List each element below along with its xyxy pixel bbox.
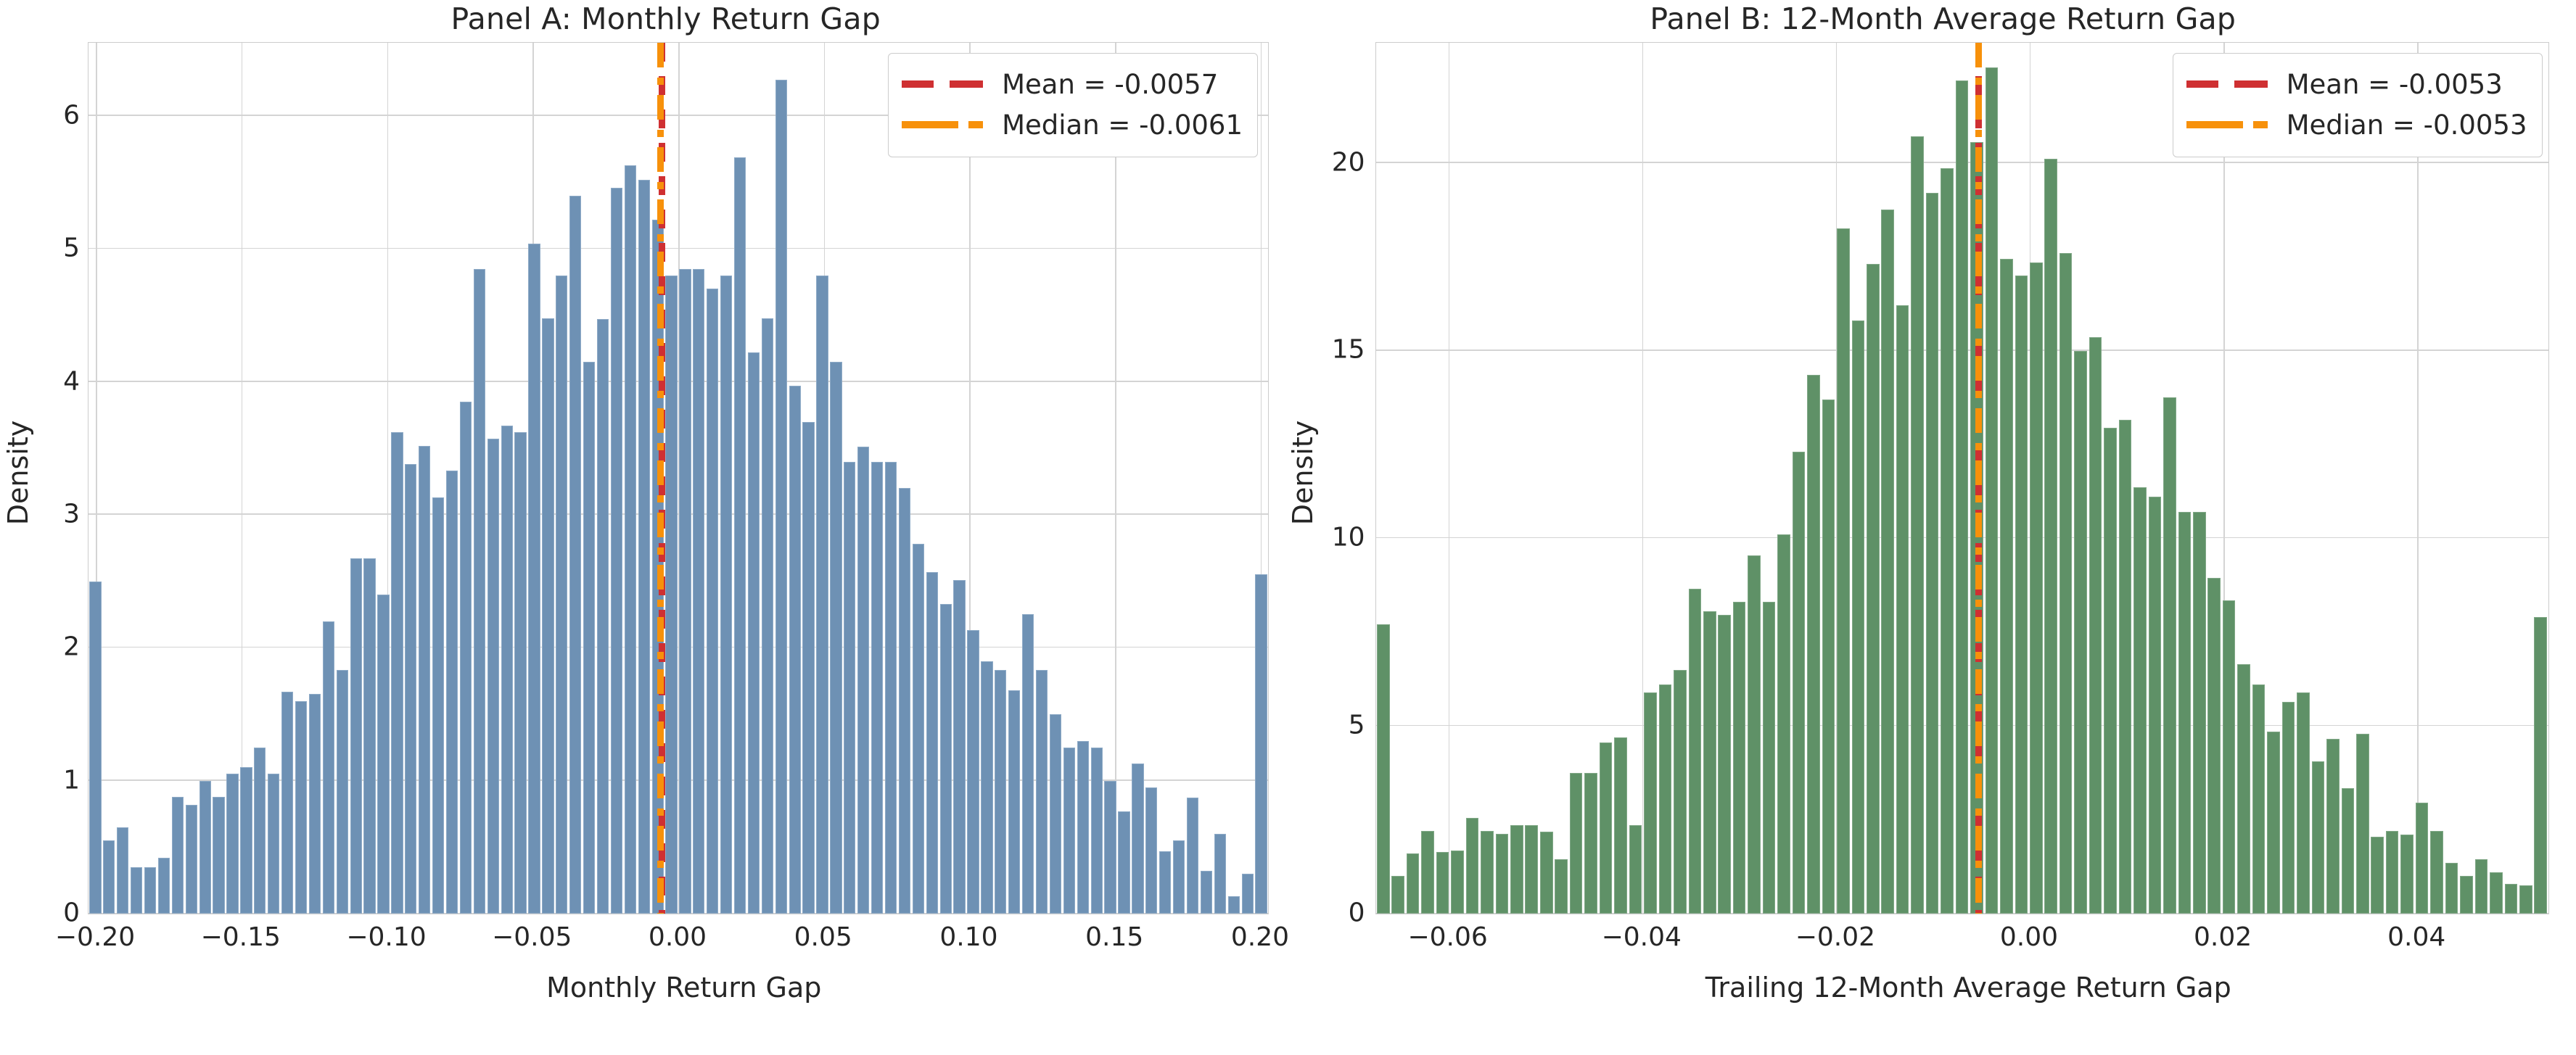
panel-b-y-axis-label: Density bbox=[1287, 400, 1319, 545]
histogram-bar bbox=[1600, 742, 1613, 914]
histogram-bar bbox=[1584, 773, 1597, 914]
x-tick-label: 0.00 bbox=[2000, 922, 2058, 952]
histogram-bar bbox=[2312, 761, 2325, 914]
histogram-bar bbox=[2505, 884, 2518, 914]
histogram-bar bbox=[1703, 611, 1716, 914]
histogram-bar bbox=[871, 462, 883, 914]
histogram-bar bbox=[885, 462, 897, 914]
figure-two-panel-histograms: Panel A: Monthly Return Gap 0123456 Dens… bbox=[0, 0, 2576, 1055]
panel-a-bars bbox=[89, 43, 1268, 914]
histogram-bar bbox=[2133, 487, 2147, 914]
histogram-bar bbox=[1763, 602, 1776, 914]
histogram-bar bbox=[734, 157, 746, 914]
x-tick-label: 0.15 bbox=[1085, 922, 1143, 952]
panel-b-x-axis-label: Trailing 12-Month Average Return Gap bbox=[1288, 972, 2576, 1004]
histogram-bar bbox=[1201, 871, 1212, 914]
histogram-bar bbox=[1077, 741, 1089, 914]
histogram-bar bbox=[1228, 896, 1240, 914]
histogram-bar bbox=[2104, 428, 2117, 914]
y-tick-label: 5 bbox=[63, 233, 80, 263]
histogram-bar bbox=[1644, 692, 1657, 914]
histogram-bar bbox=[1629, 825, 1642, 914]
histogram-bar bbox=[981, 661, 992, 914]
histogram-bar bbox=[2223, 600, 2236, 914]
y-tick-label: 5 bbox=[1349, 711, 1365, 740]
histogram-bar bbox=[1242, 874, 1254, 914]
histogram-bar bbox=[2030, 262, 2043, 914]
histogram-bar bbox=[762, 318, 773, 914]
histogram-bar bbox=[254, 748, 266, 914]
histogram-bar bbox=[89, 582, 101, 914]
legend-item-mean: Mean = -0.0053 bbox=[2186, 64, 2527, 104]
histogram-bar bbox=[1956, 80, 1969, 914]
histogram-bar bbox=[1451, 851, 1464, 914]
histogram-bar bbox=[2445, 863, 2458, 914]
histogram-bar bbox=[1036, 670, 1048, 914]
histogram-bar bbox=[1255, 574, 1267, 914]
histogram-bar bbox=[144, 867, 156, 914]
histogram-bar bbox=[2460, 876, 2473, 914]
histogram-bar bbox=[528, 244, 540, 914]
panel-b-x-axis: −0.06−0.04−0.020.000.020.04 bbox=[1375, 922, 2549, 966]
histogram-bar bbox=[391, 432, 403, 914]
histogram-bar bbox=[953, 580, 965, 914]
histogram-bar bbox=[638, 180, 650, 914]
histogram-bar bbox=[2297, 692, 2310, 914]
histogram-bar bbox=[131, 867, 142, 914]
histogram-bar bbox=[899, 488, 910, 914]
histogram-bar bbox=[487, 439, 499, 914]
histogram-bar bbox=[679, 269, 691, 914]
histogram-bar bbox=[556, 276, 567, 914]
histogram-bar bbox=[1187, 798, 1198, 914]
histogram-bar bbox=[1407, 853, 1420, 914]
histogram-bar bbox=[1926, 193, 1939, 914]
histogram-bar bbox=[460, 402, 472, 914]
histogram-bar bbox=[1986, 67, 1999, 914]
histogram-bar bbox=[309, 694, 321, 914]
histogram-bar bbox=[844, 462, 855, 914]
histogram-bar bbox=[363, 558, 375, 914]
histogram-bar bbox=[1807, 375, 1820, 914]
histogram-bar bbox=[2519, 885, 2532, 914]
histogram-bar bbox=[1777, 534, 1790, 914]
x-tick-label: −0.02 bbox=[1795, 922, 1875, 952]
histogram-bar bbox=[2015, 276, 2028, 914]
panel-a-x-axis-label: Monthly Return Gap bbox=[0, 972, 1288, 1004]
histogram-bar bbox=[1496, 834, 1509, 914]
x-tick-label: 0.10 bbox=[939, 922, 997, 952]
histogram-bar bbox=[405, 464, 416, 914]
y-tick-label: 4 bbox=[63, 366, 80, 396]
histogram-bar bbox=[2237, 664, 2250, 914]
histogram-bar bbox=[295, 701, 307, 914]
histogram-bar bbox=[1481, 831, 1494, 914]
histogram-bar bbox=[2490, 872, 2503, 914]
panel-a-plot-area: Mean = -0.0057 Median = -0.0061 bbox=[88, 42, 1269, 914]
histogram-bar bbox=[158, 858, 170, 914]
histogram-bar bbox=[2074, 351, 2087, 914]
histogram-bar bbox=[2400, 835, 2414, 914]
histogram-bar bbox=[1674, 670, 1687, 914]
histogram-bar bbox=[775, 80, 787, 914]
histogram-bar bbox=[2089, 337, 2102, 914]
x-tick-label: −0.06 bbox=[1407, 922, 1487, 952]
mean-line-swatch-icon bbox=[902, 80, 983, 88]
histogram-bar bbox=[2356, 734, 2369, 914]
histogram-bar bbox=[432, 497, 444, 914]
histogram-bar bbox=[693, 269, 704, 914]
histogram-bar bbox=[419, 446, 430, 914]
histogram-bar bbox=[789, 386, 801, 914]
histogram-bar bbox=[940, 604, 952, 914]
histogram-bar bbox=[1733, 602, 1746, 914]
histogram-bar bbox=[1570, 773, 1583, 914]
histogram-bar bbox=[377, 595, 389, 914]
histogram-bar bbox=[857, 447, 869, 914]
panel-a-title: Panel A: Monthly Return Gap bbox=[0, 1, 1288, 36]
histogram-bar bbox=[1852, 320, 1865, 914]
panel-b: Panel B: 12-Month Average Return Gap 051… bbox=[1288, 0, 2576, 1055]
histogram-bar bbox=[1659, 684, 1672, 914]
histogram-bar bbox=[281, 692, 293, 914]
histogram-bar bbox=[1837, 228, 1850, 914]
histogram-bar bbox=[323, 621, 334, 914]
panel-b-bars bbox=[1376, 43, 2548, 914]
histogram-bar bbox=[1867, 264, 1880, 914]
median-reference-line bbox=[657, 43, 664, 914]
histogram-bar bbox=[2386, 831, 2399, 914]
histogram-bar bbox=[1118, 811, 1129, 914]
histogram-bar bbox=[1063, 748, 1075, 914]
histogram-bar bbox=[2371, 837, 2384, 914]
histogram-bar bbox=[474, 269, 485, 914]
x-tick-label: −0.04 bbox=[1602, 922, 1682, 952]
histogram-bar bbox=[597, 319, 609, 914]
histogram-bar bbox=[1881, 210, 1894, 914]
y-tick-label: 10 bbox=[1332, 523, 1365, 553]
y-tick-label: 1 bbox=[63, 765, 80, 795]
x-tick-label: 0.02 bbox=[2194, 922, 2252, 952]
histogram-bar bbox=[1173, 840, 1185, 914]
histogram-bar bbox=[1614, 737, 1627, 914]
histogram-bar bbox=[1008, 690, 1020, 914]
x-tick-label: 0.05 bbox=[794, 922, 852, 952]
histogram-bar bbox=[926, 572, 938, 914]
histogram-bar bbox=[2000, 259, 2013, 914]
histogram-bar bbox=[1510, 825, 1523, 914]
histogram-bar bbox=[337, 670, 348, 914]
histogram-bar bbox=[1132, 764, 1143, 914]
histogram-bar bbox=[2059, 253, 2073, 914]
y-tick-label: 2 bbox=[63, 632, 80, 662]
panel-a-x-axis: −0.20−0.15−0.10−0.050.000.050.100.150.20 bbox=[88, 922, 1269, 966]
histogram-bar bbox=[1555, 859, 1568, 914]
histogram-bar bbox=[2178, 512, 2192, 914]
histogram-bar bbox=[514, 432, 526, 914]
histogram-bar bbox=[2207, 578, 2221, 914]
histogram-bar bbox=[1911, 136, 1924, 914]
histogram-bar bbox=[350, 558, 362, 914]
panel-a-legend: Mean = -0.0057 Median = -0.0061 bbox=[888, 53, 1258, 157]
histogram-bar bbox=[967, 630, 979, 914]
histogram-bar bbox=[1718, 615, 1731, 914]
y-tick-label: 6 bbox=[63, 100, 80, 130]
y-tick-label: 15 bbox=[1332, 335, 1365, 365]
histogram-bar bbox=[2342, 788, 2355, 914]
y-tick-label: 3 bbox=[63, 499, 80, 529]
legend-median-label: Median = -0.0053 bbox=[2287, 109, 2527, 141]
histogram-bar bbox=[720, 276, 732, 914]
panel-b-title: Panel B: 12-Month Average Return Gap bbox=[1288, 1, 2576, 36]
histogram-bar bbox=[1436, 852, 1449, 914]
histogram-bar bbox=[226, 774, 238, 914]
histogram-bar bbox=[1525, 825, 1538, 914]
histogram-bar bbox=[240, 767, 252, 914]
histogram-bar bbox=[1145, 787, 1157, 914]
histogram-bar bbox=[1466, 818, 1479, 914]
histogram-bar bbox=[2267, 732, 2280, 914]
histogram-bar bbox=[1022, 614, 1034, 914]
histogram-bar bbox=[802, 422, 814, 914]
histogram-bar bbox=[186, 805, 197, 914]
x-tick-label: −0.20 bbox=[55, 922, 135, 952]
legend-item-mean: Mean = -0.0057 bbox=[902, 64, 1243, 104]
histogram-bar bbox=[172, 797, 184, 914]
histogram-bar bbox=[501, 426, 513, 914]
histogram-bar bbox=[1050, 714, 1061, 914]
panel-a: Panel A: Monthly Return Gap 0123456 Dens… bbox=[0, 0, 1288, 1055]
histogram-bar bbox=[1091, 748, 1103, 914]
median-line-swatch-icon bbox=[2186, 121, 2268, 128]
legend-item-median: Median = -0.0053 bbox=[2186, 104, 2527, 145]
x-tick-label: 0.04 bbox=[2387, 922, 2445, 952]
histogram-bar bbox=[2149, 497, 2162, 914]
histogram-bar bbox=[1377, 624, 1390, 914]
histogram-bar bbox=[2282, 702, 2295, 914]
histogram-bar bbox=[913, 544, 924, 914]
histogram-bar bbox=[268, 774, 279, 914]
panel-b-plot-area: Mean = -0.0053 Median = -0.0053 bbox=[1375, 42, 2549, 914]
histogram-bar bbox=[665, 276, 677, 914]
histogram-bar bbox=[1159, 851, 1171, 914]
histogram-bar bbox=[995, 670, 1006, 914]
histogram-bar bbox=[707, 289, 718, 914]
histogram-bar bbox=[830, 362, 841, 914]
histogram-bar bbox=[446, 471, 458, 914]
histogram-bar bbox=[1793, 452, 1806, 914]
x-tick-label: −0.15 bbox=[201, 922, 281, 952]
histogram-bar bbox=[1391, 876, 1404, 914]
histogram-bar bbox=[2475, 859, 2488, 914]
legend-item-median: Median = -0.0061 bbox=[902, 104, 1243, 145]
histogram-bar bbox=[611, 188, 622, 914]
x-tick-label: −0.05 bbox=[492, 922, 572, 952]
histogram-bar bbox=[2044, 159, 2057, 914]
histogram-bar bbox=[625, 165, 636, 914]
histogram-bar bbox=[2193, 512, 2206, 914]
histogram-bar bbox=[117, 827, 128, 914]
median-reference-line bbox=[1975, 43, 1982, 914]
histogram-bar bbox=[2416, 803, 2429, 914]
histogram-bar bbox=[542, 318, 554, 914]
histogram-bar bbox=[199, 781, 211, 914]
histogram-bar bbox=[748, 352, 760, 914]
legend-mean-label: Mean = -0.0057 bbox=[1002, 69, 1218, 100]
histogram-bar bbox=[2534, 617, 2547, 914]
histogram-bar bbox=[2163, 397, 2176, 914]
histogram-bar bbox=[103, 840, 115, 914]
x-tick-label: 0.20 bbox=[1231, 922, 1289, 952]
histogram-bar bbox=[569, 196, 581, 914]
histogram-bar bbox=[1689, 589, 1702, 914]
histogram-bar bbox=[1941, 168, 1954, 914]
x-tick-label: −0.10 bbox=[346, 922, 426, 952]
median-line-swatch-icon bbox=[902, 121, 983, 128]
panel-a-y-axis-label: Density bbox=[2, 400, 34, 545]
histogram-bar bbox=[816, 276, 828, 914]
legend-mean-label: Mean = -0.0053 bbox=[2287, 69, 2503, 100]
histogram-bar bbox=[1421, 831, 1434, 914]
histogram-bar bbox=[1896, 305, 1909, 914]
histogram-bar bbox=[1540, 832, 1553, 914]
x-tick-label: 0.00 bbox=[649, 922, 707, 952]
panel-b-legend: Mean = -0.0053 Median = -0.0053 bbox=[2173, 53, 2543, 157]
histogram-bar bbox=[583, 362, 595, 914]
histogram-bar bbox=[1214, 834, 1226, 914]
y-tick-label: 0 bbox=[1349, 898, 1365, 928]
histogram-bar bbox=[2119, 420, 2132, 914]
histogram-bar bbox=[213, 797, 224, 914]
mean-line-swatch-icon bbox=[2186, 80, 2268, 88]
histogram-bar bbox=[1104, 781, 1116, 914]
histogram-bar bbox=[1822, 400, 1835, 914]
histogram-bar bbox=[2430, 831, 2443, 914]
histogram-bar bbox=[2326, 739, 2340, 914]
y-tick-label: 20 bbox=[1332, 147, 1365, 177]
histogram-bar bbox=[1748, 555, 1761, 914]
histogram-bar bbox=[2252, 684, 2266, 914]
legend-median-label: Median = -0.0061 bbox=[1002, 109, 1243, 141]
